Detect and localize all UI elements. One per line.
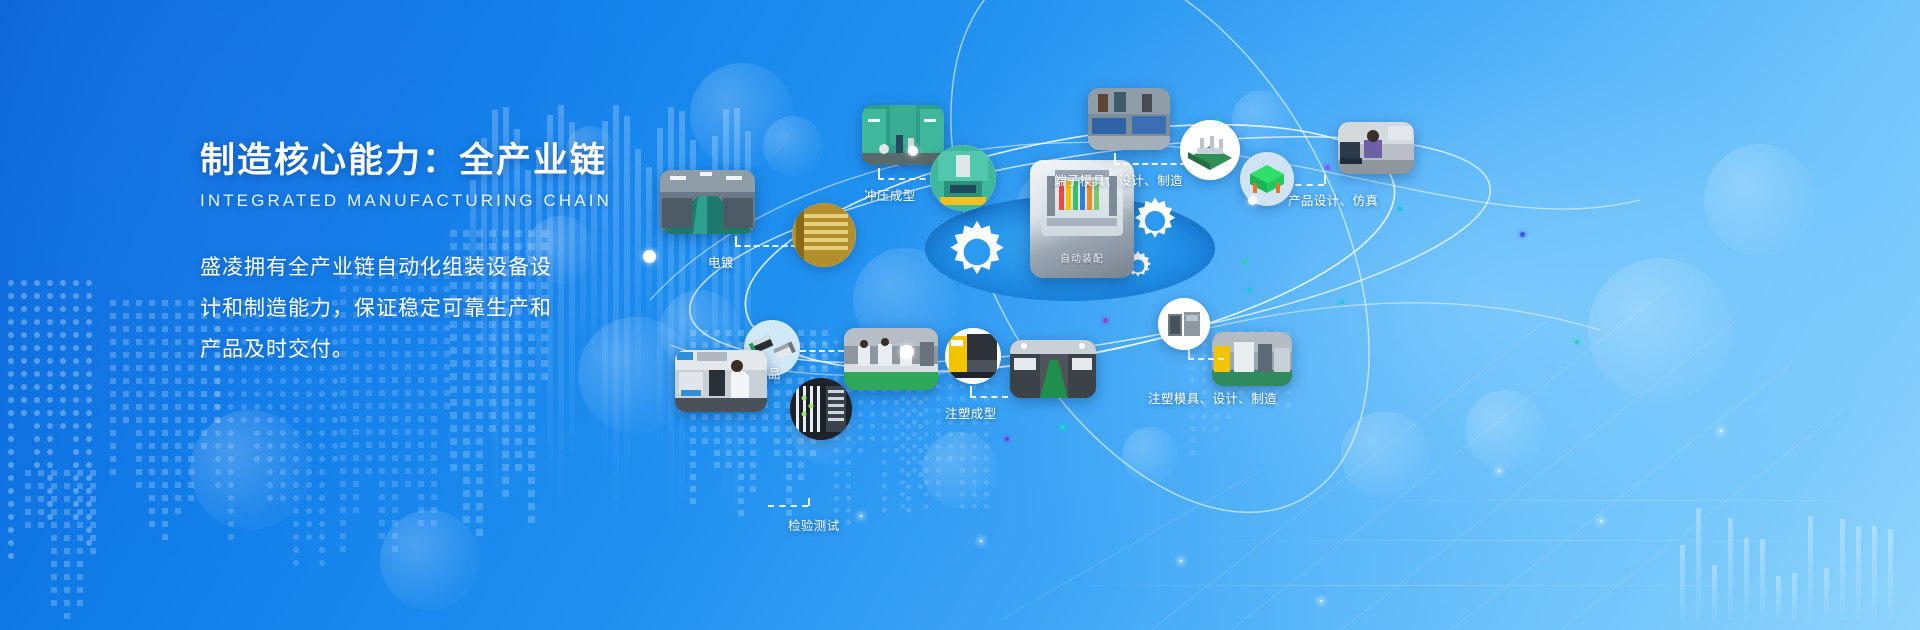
connector-line xyxy=(970,396,1008,398)
plating-line-photo-icon xyxy=(660,170,755,234)
connector-line xyxy=(1188,358,1224,360)
node-label-product-design: 产品设计、仿真 xyxy=(1288,190,1378,209)
orbit-node-dot xyxy=(1248,196,1257,205)
mold-block-icon xyxy=(1158,298,1210,350)
orbit-node-dot xyxy=(908,146,918,156)
injection-machine-icon xyxy=(945,328,1001,384)
orbit-rings xyxy=(640,0,1920,630)
gold-terminal-strip-icon xyxy=(792,203,856,267)
assembly-line-photo-icon xyxy=(844,328,938,390)
node-label-terminal-mold: 端子模具、设计、制造 xyxy=(1054,170,1183,189)
test-fixture-icon xyxy=(790,378,852,440)
mold-workshop-photo-icon xyxy=(1088,88,1170,150)
injection-molding-machine-icon[interactable] xyxy=(945,328,1001,384)
inspection-test-icon[interactable] xyxy=(790,378,852,440)
connector-line xyxy=(800,350,844,352)
press-machine-icon xyxy=(930,145,996,211)
mold-production-photo-icon xyxy=(1212,332,1292,386)
node-label-electroplating: 电镀 xyxy=(708,252,734,271)
page-subtitle: INTEGRATED MANUFACTURING CHAIN xyxy=(200,191,620,211)
body-line: 产品及时交付。 xyxy=(200,329,620,370)
connector-line xyxy=(878,168,880,178)
decor-shape xyxy=(190,410,310,530)
decor-shape xyxy=(624,116,630,492)
connector-line xyxy=(1324,174,1326,184)
hero-text-panel: 制造核心能力：全产业链 INTEGRATED MANUFACTURING CHA… xyxy=(200,140,620,370)
orbit-node-dot xyxy=(643,250,656,263)
connector-line xyxy=(1114,153,1116,163)
inspection-lab-photo-icon xyxy=(675,350,767,412)
electroplating-part-icon[interactable] xyxy=(792,203,856,267)
page-title: 制造核心能力：全产业链 xyxy=(200,140,620,182)
molding-line-photo-icon xyxy=(1010,340,1096,398)
connector-line xyxy=(878,178,936,180)
stamping-machine-icon[interactable] xyxy=(930,145,996,211)
decor-shape xyxy=(380,510,480,610)
gear-icon xyxy=(940,215,1014,289)
node-label-stamping: 冲压成型 xyxy=(864,185,916,204)
mold-base-icon xyxy=(1180,120,1240,180)
product-design-thumbnail[interactable] xyxy=(1338,122,1414,174)
connector-line xyxy=(970,386,972,396)
center-label: 自动装配 xyxy=(1030,250,1134,265)
node-label-inspection-test: 检验测试 xyxy=(788,515,840,534)
orbit-node-dot xyxy=(900,345,914,359)
finished-product-thumbnail[interactable] xyxy=(844,328,938,390)
inspection-thumbnail[interactable] xyxy=(675,350,767,412)
stamping-shop-photo-icon xyxy=(862,105,944,165)
injection-mold-thumbnail[interactable] xyxy=(1212,332,1292,386)
banner-root: 制造核心能力：全产业链 INTEGRATED MANUFACTURING CHA… xyxy=(0,0,1920,630)
node-label-injection-molding: 注塑成型 xyxy=(945,403,997,422)
design-office-photo-icon xyxy=(1338,122,1414,174)
connector-line xyxy=(1114,163,1186,165)
gear-icon xyxy=(1127,193,1183,249)
body-line: 计和制造能力，保证稳定可靠生产和 xyxy=(200,288,620,329)
terminal-mold-thumbnail[interactable] xyxy=(1088,88,1170,150)
node-label-injection-mold: 注塑模具、设计、制造 xyxy=(1148,388,1277,407)
terminal-mold-icon[interactable] xyxy=(1180,120,1240,180)
body-line: 盛凌拥有全产业链自动化组装设备设 xyxy=(200,247,620,288)
injection-mold-icon[interactable] xyxy=(1158,298,1210,350)
stamping-thumbnail[interactable] xyxy=(862,105,944,165)
hero-body-text: 盛凌拥有全产业链自动化组装设备设 计和制造能力，保证稳定可靠生产和 产品及时交付… xyxy=(200,247,620,370)
electroplating-thumbnail[interactable] xyxy=(660,170,755,234)
connector-line xyxy=(768,505,808,507)
injection-molding-thumbnail[interactable] xyxy=(1010,340,1096,398)
connector-line xyxy=(735,245,797,247)
manufacturing-chain-diagram: 自动装配 电镀 xyxy=(640,0,1920,630)
connector-line xyxy=(808,498,810,506)
connector-line xyxy=(735,236,737,245)
